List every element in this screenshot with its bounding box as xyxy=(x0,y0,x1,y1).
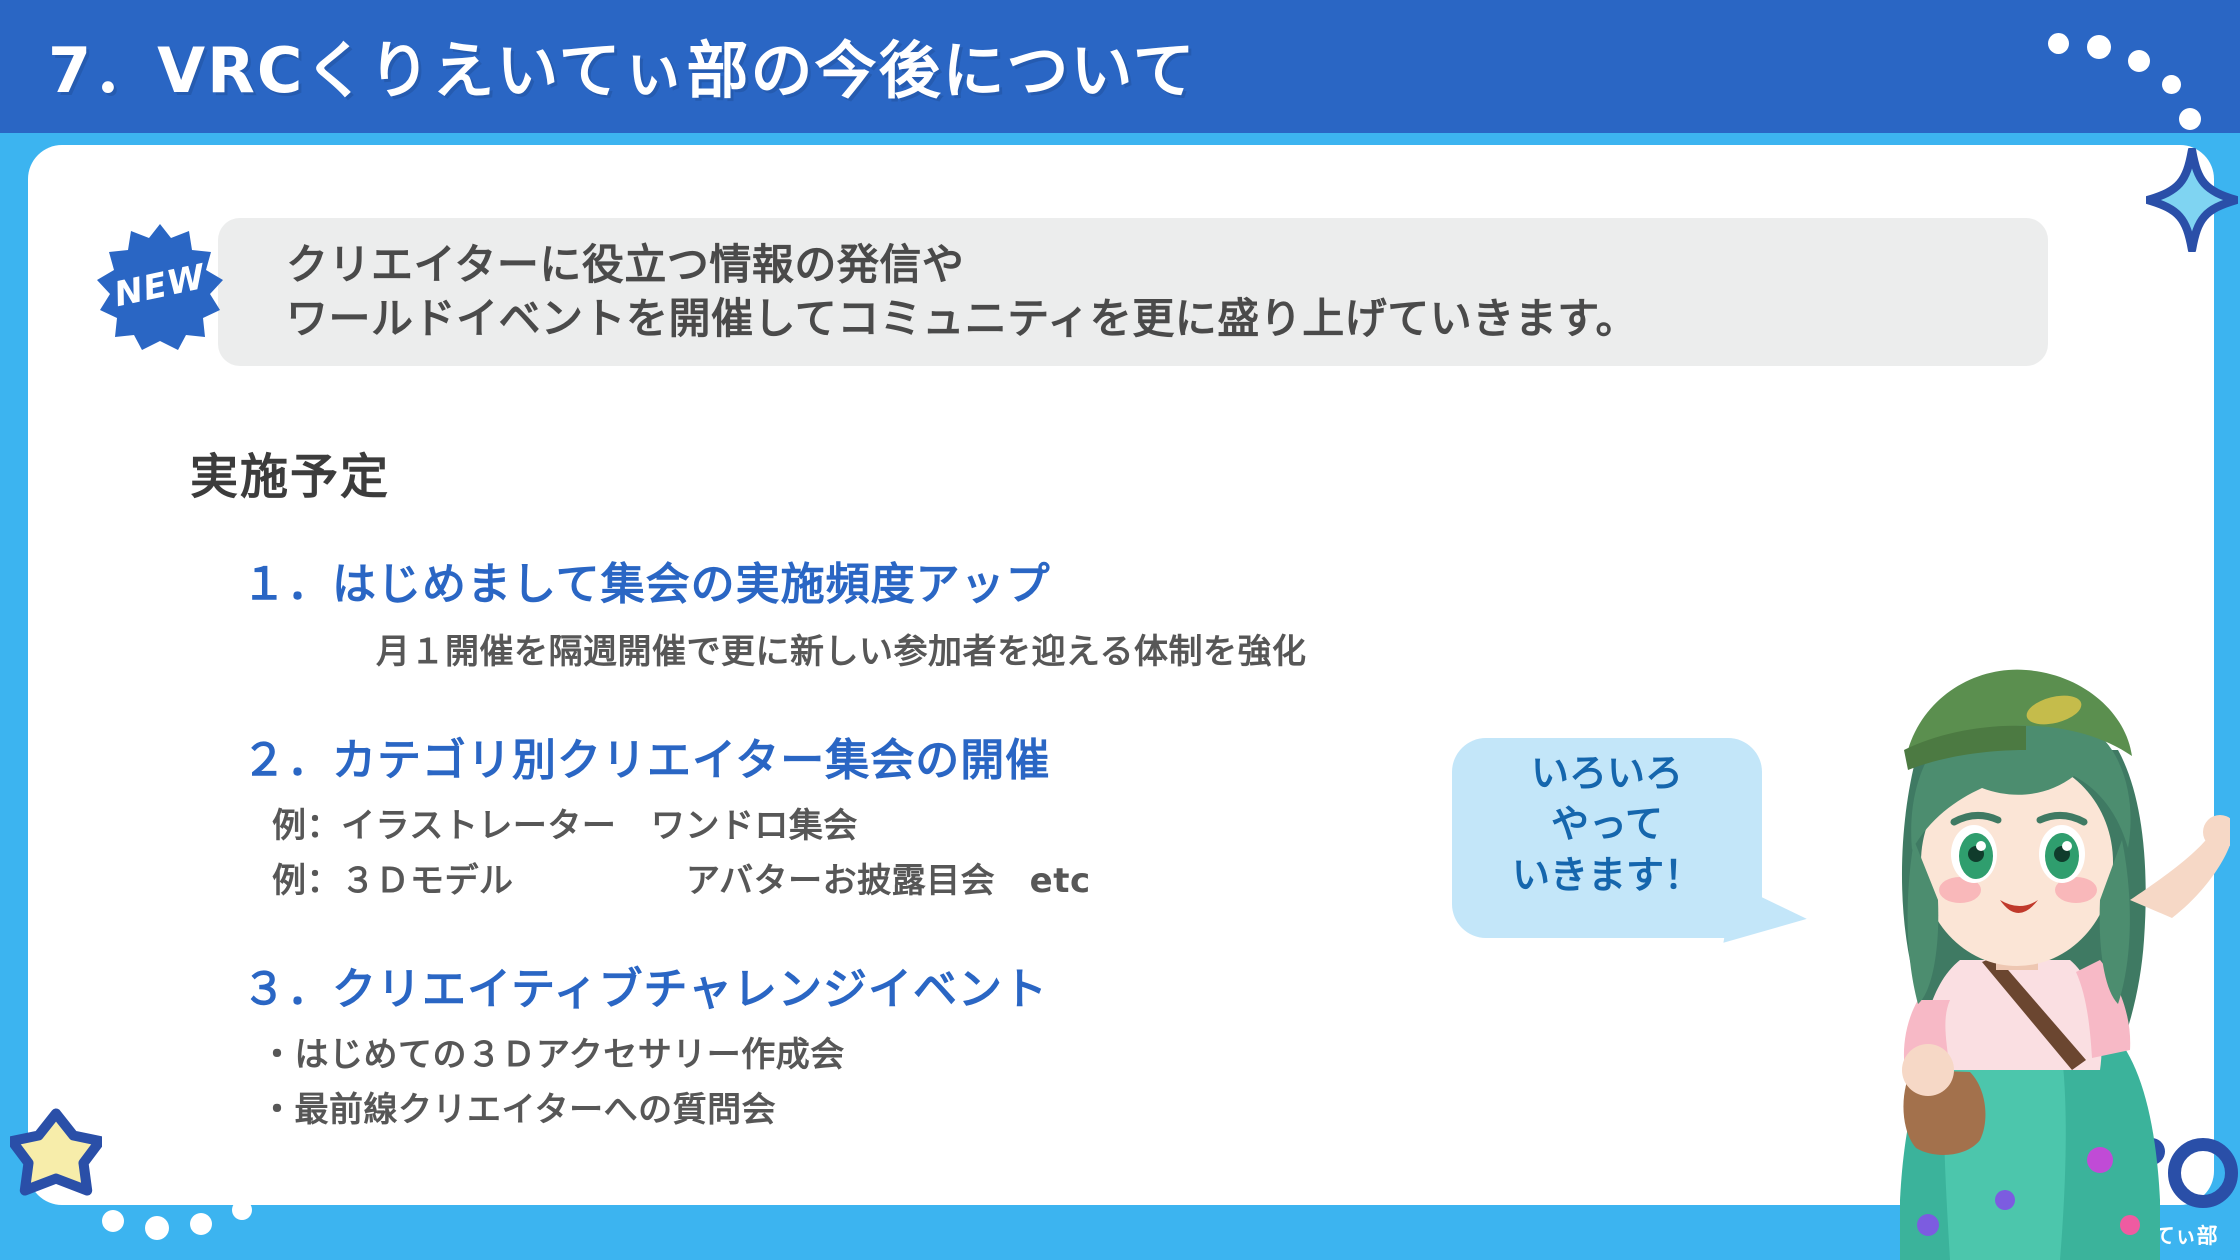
item-subtext: ・最前線クリエイターへの質問会 xyxy=(260,1082,1048,1131)
item-title: １．はじめまして集会の実施頻度アップ xyxy=(242,548,1306,612)
slide-header-bar: 7．VRCくりえいてぃ部の今後について xyxy=(0,0,2240,133)
decor-dot-8 xyxy=(190,1213,212,1235)
list-item: ３．クリエイティブチャレンジイベント ・はじめての３Ｄアクセサリー作成会 ・最前… xyxy=(242,953,1048,1131)
decor-dot-7 xyxy=(145,1216,169,1240)
bubble-line-1: いろいろ xyxy=(1452,748,1762,799)
callout-line-1: クリエイターに役立つ情報の発信や xyxy=(286,238,2046,292)
star-icon xyxy=(10,1108,102,1196)
list-item: ２．カテゴリ別クリエイター集会の開催 例：イラストレーター ワンドロ集会 例：３… xyxy=(242,724,1091,902)
item-subtext: 月１開催を隔週開催で更に新しい参加者を迎える体制を強化 xyxy=(376,624,1306,673)
item-subtext: 例：３Ｄモデル アバターお披露目会 etc xyxy=(272,853,1091,902)
sparkle-icon xyxy=(2146,148,2238,252)
slide-root: 7．VRCくりえいてぃ部の今後について NEW クリエイターに役立つ情報の発信や… xyxy=(0,0,2240,1260)
decor-dot-3 xyxy=(2128,50,2150,72)
list-item: １．はじめまして集会の実施頻度アップ 月１開催を隔週開催で更に新しい参加者を迎え… xyxy=(242,548,1306,673)
decor-dot-2 xyxy=(2087,35,2111,59)
decor-dot-4 xyxy=(2162,75,2181,94)
page-title: 7．VRCくりえいてぃ部の今後について xyxy=(48,20,1197,110)
decor-dot-9 xyxy=(232,1200,252,1220)
new-badge: NEW xyxy=(96,222,224,350)
callout-line-2: ワールドイベントを開催してコミュニティを更に盛り上げていきます。 xyxy=(286,292,2046,346)
speech-bubble-text: いろいろ やって いきます！ xyxy=(1452,748,1762,901)
item-subtext: 例：イラストレーター ワンドロ集会 xyxy=(272,798,1091,847)
item-title: ２．カテゴリ別クリエイター集会の開催 xyxy=(242,724,1091,788)
bubble-line-2: やって xyxy=(1452,799,1762,850)
decor-dot-1 xyxy=(2048,33,2069,54)
section-heading: 実施予定 xyxy=(190,437,390,507)
decor-dot-5 xyxy=(2179,108,2201,130)
bubble-line-3: いきます！ xyxy=(1452,850,1762,901)
new-badge-label: NEW xyxy=(84,210,236,362)
item-title: ３．クリエイティブチャレンジイベント xyxy=(242,953,1048,1017)
item-subtext: ・はじめての３Ｄアクセサリー作成会 xyxy=(260,1027,1048,1076)
decor-dot-6 xyxy=(102,1210,124,1232)
mascot-character xyxy=(1800,600,2230,1260)
callout-text: クリエイターに役立つ情報の発信や ワールドイベントを開催してコミュニティを更に盛… xyxy=(286,238,2046,346)
